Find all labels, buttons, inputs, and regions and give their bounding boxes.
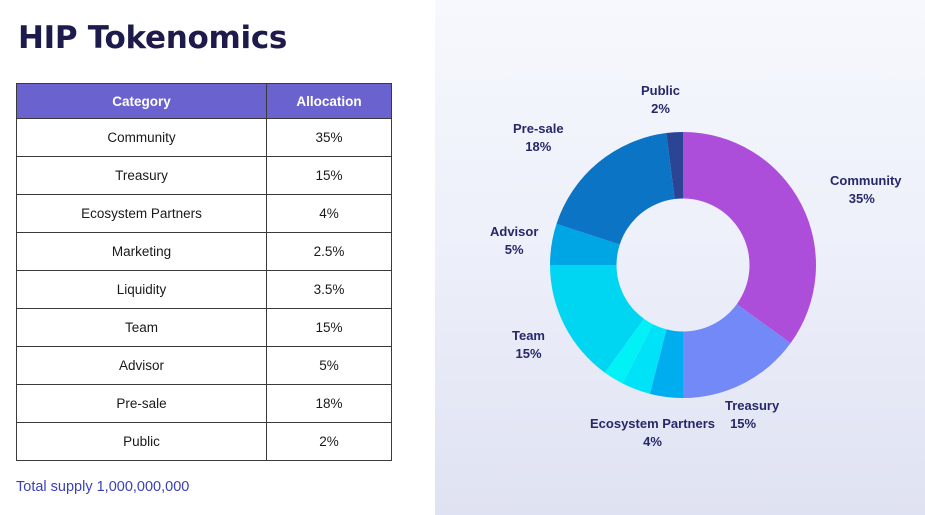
- table-row: Community 35%: [17, 119, 392, 157]
- tokenomics-left-panel: HIP Tokenomics Category Allocation Commu…: [0, 0, 435, 515]
- cell-allocation: 5%: [267, 347, 392, 385]
- tokenomics-table: Category Allocation Community 35% Treasu…: [16, 83, 392, 461]
- chart-label-advisor-pct: 5%: [490, 241, 538, 259]
- tokenomics-chart-panel: Community 35% Treasury 15% Ecosystem Par…: [435, 0, 925, 515]
- cell-category: Advisor: [17, 347, 267, 385]
- cell-allocation: 18%: [267, 385, 392, 423]
- chart-label-ecosystem-partners: Ecosystem Partners 4%: [590, 415, 715, 450]
- column-header-category: Category: [17, 84, 267, 119]
- cell-allocation: 35%: [267, 119, 392, 157]
- table-row: Liquidity 3.5%: [17, 271, 392, 309]
- page-title: HIP Tokenomics: [18, 20, 287, 56]
- cell-category: Ecosystem Partners: [17, 195, 267, 233]
- table-row: Treasury 15%: [17, 157, 392, 195]
- chart-label-ecosystem-partners-name: Ecosystem Partners: [590, 416, 715, 431]
- table-row: Team 15%: [17, 309, 392, 347]
- chart-label-presale: Pre-sale 18%: [513, 120, 564, 155]
- chart-label-public-pct: 2%: [641, 100, 680, 118]
- cell-category: Pre-sale: [17, 385, 267, 423]
- table-header: Category Allocation: [17, 84, 392, 119]
- table-row: Marketing 2.5%: [17, 233, 392, 271]
- chart-label-team-name: Team: [512, 328, 545, 343]
- chart-label-public-name: Public: [641, 83, 680, 98]
- donut-slice-group: [550, 132, 816, 398]
- cell-category: Treasury: [17, 157, 267, 195]
- chart-label-community-pct: 35%: [830, 190, 902, 208]
- table-row: Advisor 5%: [17, 347, 392, 385]
- chart-label-team: Team 15%: [512, 327, 545, 362]
- cell-category: Community: [17, 119, 267, 157]
- cell-category: Marketing: [17, 233, 267, 271]
- cell-allocation: 2.5%: [267, 233, 392, 271]
- chart-label-advisor: Advisor 5%: [490, 223, 538, 258]
- chart-label-community-name: Community: [830, 173, 902, 188]
- table-row: Ecosystem Partners 4%: [17, 195, 392, 233]
- cell-allocation: 15%: [267, 309, 392, 347]
- chart-label-treasury-pct: 15%: [725, 415, 779, 433]
- chart-label-team-pct: 15%: [512, 345, 545, 363]
- table-header-row: Category Allocation: [17, 84, 392, 119]
- cell-allocation: 4%: [267, 195, 392, 233]
- chart-label-ecosystem-partners-pct: 4%: [590, 433, 715, 451]
- cell-category: Team: [17, 309, 267, 347]
- cell-category: Public: [17, 423, 267, 461]
- donut-slice-pre-sale[interactable]: [557, 133, 675, 244]
- table-body: Community 35% Treasury 15% Ecosystem Par…: [17, 119, 392, 461]
- cell-allocation: 15%: [267, 157, 392, 195]
- cell-allocation: 2%: [267, 423, 392, 461]
- column-header-allocation: Allocation: [267, 84, 392, 119]
- chart-label-treasury-name: Treasury: [725, 398, 779, 413]
- chart-label-treasury: Treasury 15%: [725, 397, 779, 432]
- chart-label-community: Community 35%: [830, 172, 902, 207]
- chart-label-presale-name: Pre-sale: [513, 121, 564, 136]
- donut-slice-community[interactable]: [683, 132, 816, 343]
- total-supply-text: Total supply 1,000,000,000: [16, 479, 189, 495]
- table-row: Pre-sale 18%: [17, 385, 392, 423]
- chart-label-advisor-name: Advisor: [490, 224, 538, 239]
- cell-category: Liquidity: [17, 271, 267, 309]
- chart-label-public: Public 2%: [641, 82, 680, 117]
- cell-allocation: 3.5%: [267, 271, 392, 309]
- chart-label-presale-pct: 18%: [513, 138, 564, 156]
- table-row: Public 2%: [17, 423, 392, 461]
